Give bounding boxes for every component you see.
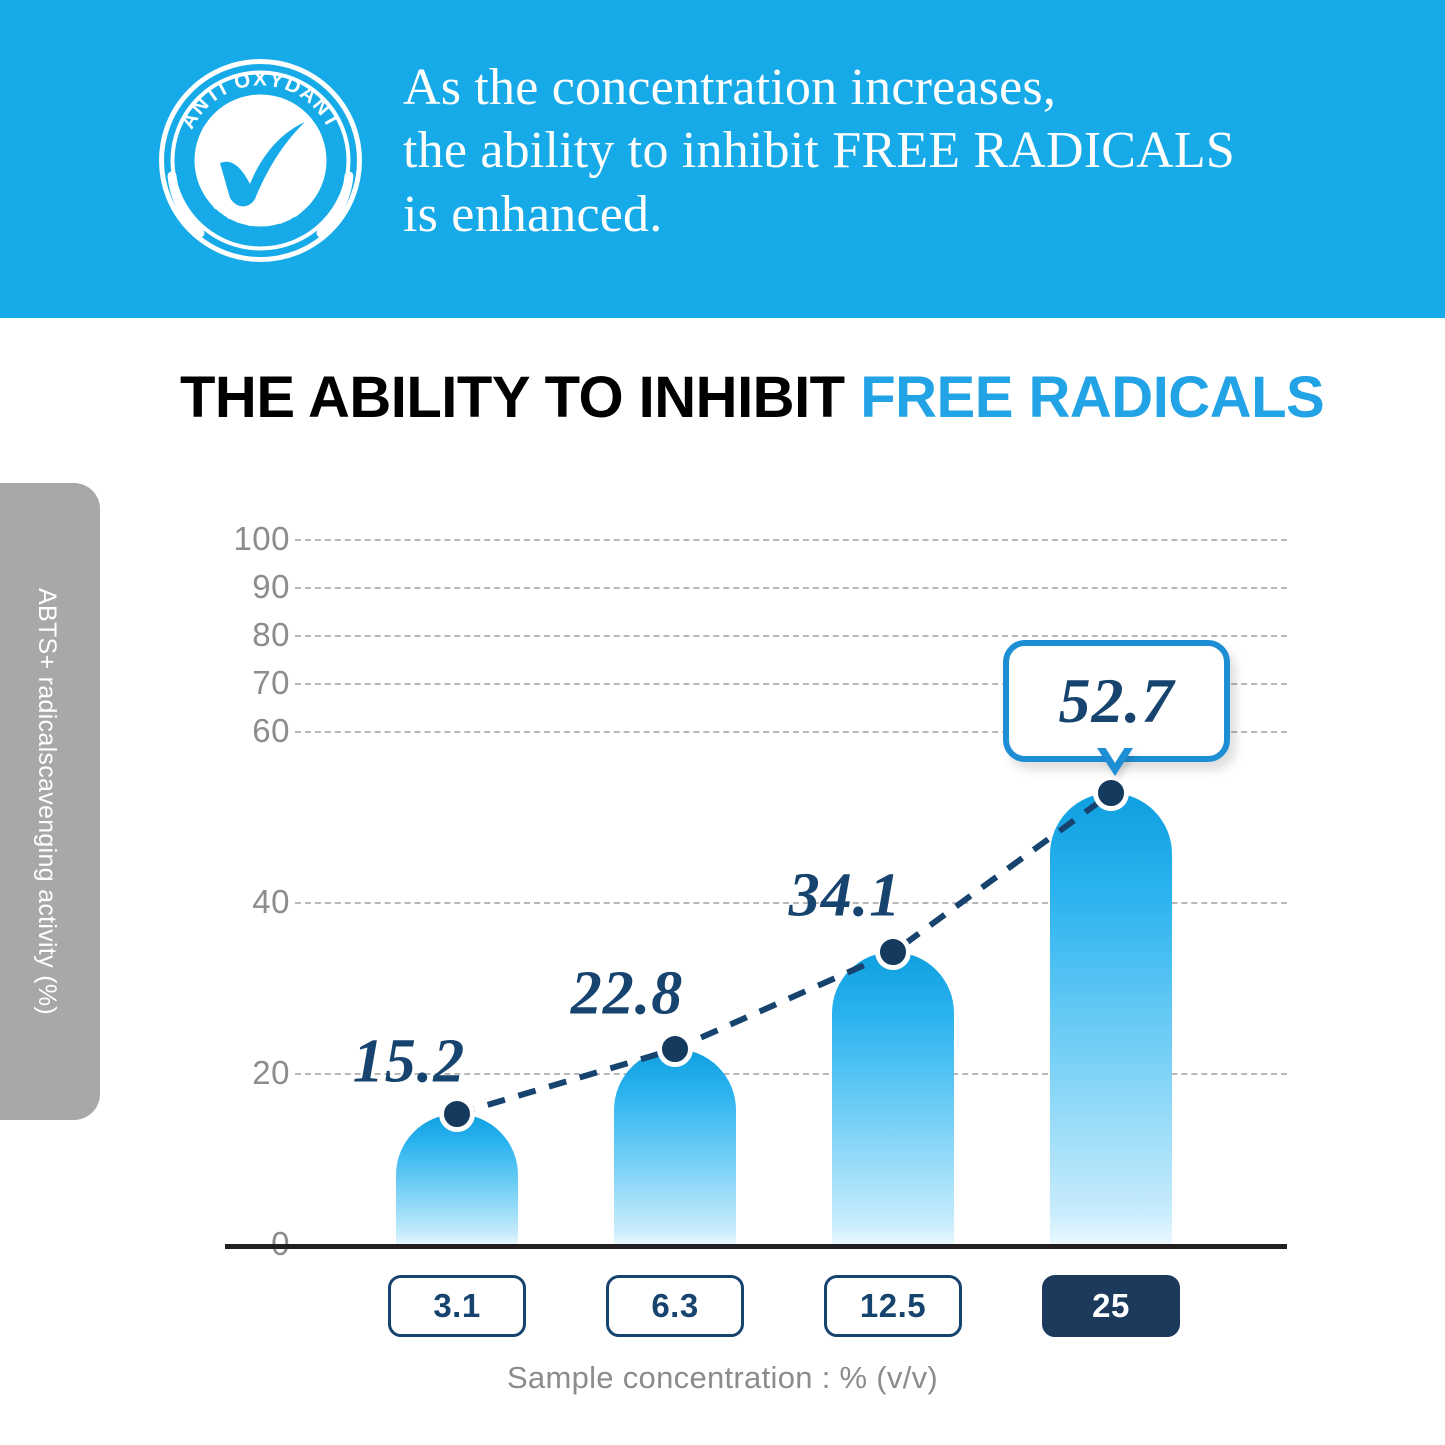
gridline: [295, 1073, 1287, 1075]
bar: [1050, 793, 1172, 1244]
x-category-chip[interactable]: 12.5: [824, 1275, 962, 1337]
gridline: [295, 539, 1287, 541]
data-label: 22.8: [571, 959, 684, 1030]
banner-headline: As the concentration increases, the abil…: [403, 56, 1343, 246]
y-tick-label: 60: [220, 712, 290, 750]
y-tick-label: 90: [220, 568, 290, 606]
x-category-chip[interactable]: 6.3: [606, 1275, 744, 1337]
y-tick-label: 100: [220, 520, 290, 558]
x-category-chip[interactable]: 25: [1042, 1275, 1180, 1337]
y-axis-title: ABTS+ radicalscavenging activity (%): [32, 588, 61, 1015]
headline-line-2: the ability to inhibit FREE RADICALS: [403, 119, 1343, 182]
data-label: 15.2: [353, 1027, 466, 1098]
y-tick-label: 70: [220, 664, 290, 702]
y-axis-title-tab: ABTS+ radicalscavenging activity (%): [0, 483, 100, 1120]
gridline: [295, 587, 1287, 589]
header-banner: ANTI OXYDANT PROVED As the concentration…: [0, 0, 1445, 318]
y-tick-label: 0: [220, 1225, 290, 1263]
data-label: 34.1: [789, 861, 902, 932]
trend-dot: [439, 1096, 475, 1132]
trend-dot: [657, 1031, 693, 1067]
bar: [614, 1049, 736, 1244]
trend-dot: [1093, 775, 1129, 811]
page-title-plain: THE ABILITY TO INHIBIT: [180, 365, 860, 430]
bar: [396, 1114, 518, 1244]
x-category-chip[interactable]: 3.1: [388, 1275, 526, 1337]
gridline: [295, 635, 1287, 637]
trend-dot: [875, 934, 911, 970]
y-tick-label: 20: [220, 1054, 290, 1092]
x-axis-title: Sample concentration : % (v/v): [0, 1360, 1445, 1396]
headline-line-1: As the concentration increases,: [403, 56, 1343, 119]
y-tick-label: 40: [220, 883, 290, 921]
x-axis-line: [225, 1244, 1287, 1249]
bar: [832, 952, 954, 1244]
headline-line-3: is enhanced.: [403, 183, 1343, 246]
callout-value: 52.7: [1059, 664, 1175, 738]
page-title-accent: FREE RADICALS: [860, 365, 1324, 430]
gridline: [295, 902, 1287, 904]
callout-tail-inner: [1103, 744, 1127, 763]
antioxidant-proved-seal: ANTI OXYDANT PROVED: [158, 58, 363, 263]
y-tick-label: 80: [220, 616, 290, 654]
page-title: THE ABILITY TO INHIBIT FREE RADICALS: [180, 364, 1324, 431]
